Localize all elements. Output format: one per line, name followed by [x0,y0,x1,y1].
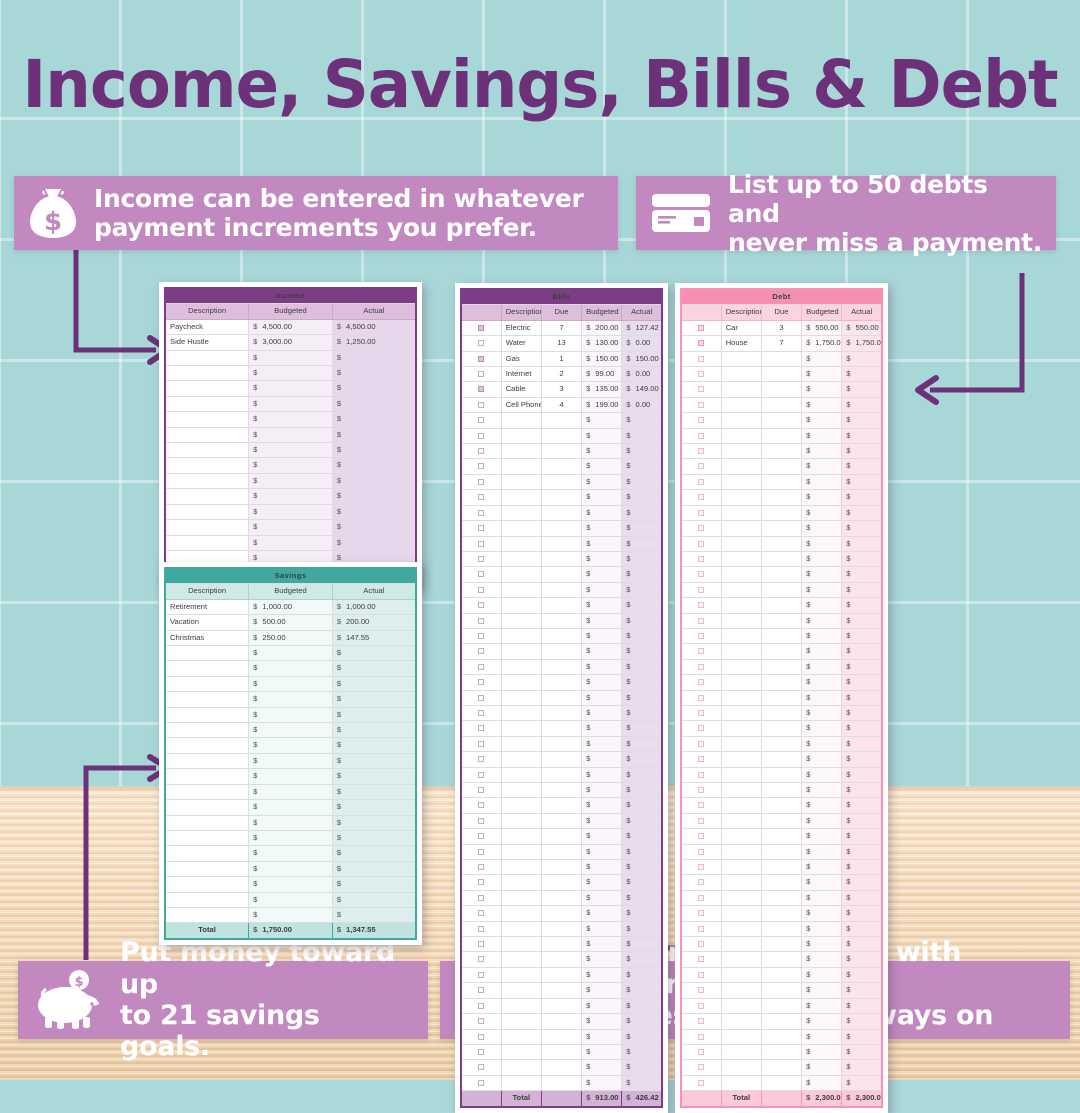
row-budgeted[interactable]: $ [582,998,622,1013]
row-due[interactable] [541,844,581,859]
row-actual[interactable]: $ [842,675,882,690]
row-actual[interactable]: $ [842,474,882,489]
row-description[interactable] [721,613,761,628]
row-description[interactable] [165,800,249,815]
table-row[interactable]: $$ [681,490,882,505]
row-description[interactable] [721,1075,761,1090]
row-budgeted[interactable]: $ [802,937,842,952]
table-row[interactable]: $$ [165,800,416,815]
row-checkbox[interactable] [681,536,721,551]
row-budgeted[interactable]: $150.00 [582,351,622,366]
row-description[interactable] [501,736,541,751]
row-description[interactable] [501,582,541,597]
row-budgeted[interactable]: $ [249,723,333,738]
row-budgeted[interactable]: $ [249,753,333,768]
row-budgeted[interactable]: $ [582,1075,622,1090]
table-row[interactable]: $$ [461,582,662,597]
row-actual[interactable]: $ [622,444,662,459]
row-checkbox[interactable] [461,351,501,366]
row-description[interactable] [165,427,249,442]
row-actual[interactable]: $ [842,521,882,536]
table-row[interactable]: $$ [461,659,662,674]
row-description[interactable] [501,906,541,921]
row-description[interactable] [501,644,541,659]
row-description[interactable] [721,505,761,520]
row-checkbox[interactable] [461,767,501,782]
row-checkbox[interactable] [461,783,501,798]
table-row[interactable]: $$ [681,582,882,597]
row-checkbox[interactable] [681,659,721,674]
row-checkbox[interactable] [461,829,501,844]
row-budgeted[interactable]: $ [582,659,622,674]
row-actual[interactable]: $ [622,490,662,505]
row-budgeted[interactable]: $ [802,1029,842,1044]
row-actual[interactable]: $ [622,1044,662,1059]
row-checkbox[interactable] [681,1044,721,1059]
table-row[interactable]: $$ [681,351,882,366]
row-checkbox[interactable] [681,813,721,828]
row-due[interactable] [541,444,581,459]
table-row[interactable]: $$ [681,567,882,582]
table-row[interactable]: $$ [461,1060,662,1075]
row-due[interactable] [761,613,801,628]
row-description[interactable] [501,952,541,967]
row-due[interactable] [541,813,581,828]
row-due[interactable] [541,613,581,628]
row-budgeted[interactable]: $ [582,567,622,582]
row-budgeted[interactable]: $ [249,907,333,922]
table-row[interactable]: Gas1$150.00$150.00 [461,351,662,366]
row-actual[interactable]: $147.55 [332,630,416,645]
row-description[interactable] [501,998,541,1013]
table-row[interactable]: $$ [461,1044,662,1059]
table-row[interactable]: $$ [681,752,882,767]
row-due[interactable] [761,444,801,459]
row-budgeted[interactable]: $3,000.00 [249,335,333,350]
row-actual[interactable]: $ [332,458,416,473]
row-due[interactable] [541,1014,581,1029]
row-checkbox[interactable] [681,921,721,936]
row-checkbox[interactable] [461,813,501,828]
row-due[interactable] [541,798,581,813]
table-row[interactable]: $$ [461,783,662,798]
row-description[interactable] [165,489,249,504]
row-checkbox[interactable] [461,320,501,335]
row-description[interactable] [165,646,249,661]
row-budgeted[interactable]: $ [582,875,622,890]
row-actual[interactable]: $ [622,906,662,921]
row-description[interactable]: Side Hustle [165,335,249,350]
table-row[interactable]: $$ [165,892,416,907]
table-row[interactable]: $$ [165,427,416,442]
row-budgeted[interactable]: $ [802,644,842,659]
row-actual[interactable]: $ [332,489,416,504]
table-row[interactable]: $$ [461,1075,662,1090]
row-checkbox[interactable] [681,521,721,536]
row-actual[interactable]: $ [842,690,882,705]
row-description[interactable] [501,567,541,582]
row-actual[interactable]: $ [842,459,882,474]
row-due[interactable] [541,998,581,1013]
row-actual[interactable]: $550.00 [842,320,882,335]
row-actual[interactable]: $ [622,844,662,859]
row-budgeted[interactable]: $ [582,505,622,520]
row-budgeted[interactable]: $ [582,598,622,613]
row-budgeted[interactable]: $ [249,661,333,676]
row-due[interactable] [761,1044,801,1059]
row-budgeted[interactable]: $ [802,890,842,905]
row-description[interactable] [721,598,761,613]
row-budgeted[interactable]: $ [802,459,842,474]
row-due[interactable] [761,551,801,566]
row-budgeted[interactable]: $ [802,798,842,813]
table-row[interactable]: $$ [461,551,662,566]
table-row[interactable]: $$ [681,551,882,566]
table-row[interactable]: $$ [461,813,662,828]
row-description[interactable] [501,860,541,875]
row-budgeted[interactable]: $ [582,1044,622,1059]
row-checkbox[interactable] [461,428,501,443]
table-row[interactable]: Internet2$99.00$0.00 [461,367,662,382]
row-actual[interactable]: $ [842,444,882,459]
row-description[interactable] [721,1060,761,1075]
row-budgeted[interactable]: $ [582,474,622,489]
table-row[interactable]: $$ [461,937,662,952]
row-budgeted[interactable]: $ [249,396,333,411]
row-due[interactable]: 7 [761,336,801,351]
row-actual[interactable]: $ [332,396,416,411]
row-actual[interactable]: $ [622,551,662,566]
row-checkbox[interactable] [461,752,501,767]
row-due[interactable]: 3 [761,320,801,335]
row-description[interactable] [165,846,249,861]
row-budgeted[interactable]: $4,500.00 [249,319,333,334]
row-budgeted[interactable]: $ [582,444,622,459]
row-budgeted[interactable]: $ [802,598,842,613]
row-budgeted[interactable]: $ [582,628,622,643]
row-actual[interactable]: $ [332,366,416,381]
row-description[interactable] [721,536,761,551]
row-actual[interactable]: $ [332,381,416,396]
row-description[interactable] [165,458,249,473]
row-budgeted[interactable]: $135.00 [582,382,622,397]
table-row[interactable]: $$ [461,598,662,613]
row-actual[interactable]: $1,000.00 [332,599,416,614]
row-budgeted[interactable]: $ [582,829,622,844]
row-description[interactable] [721,382,761,397]
table-row[interactable]: $$ [681,813,882,828]
row-checkbox[interactable] [461,937,501,952]
row-checkbox[interactable] [681,598,721,613]
row-budgeted[interactable]: $ [249,473,333,488]
row-description[interactable] [501,459,541,474]
row-budgeted[interactable]: $ [802,367,842,382]
table-row[interactable]: Electric7$200.00$127.42 [461,320,662,335]
row-description[interactable] [721,875,761,890]
row-checkbox[interactable] [681,690,721,705]
row-description[interactable] [721,351,761,366]
row-checkbox[interactable] [681,1060,721,1075]
row-due[interactable] [541,721,581,736]
row-due[interactable]: 1 [541,351,581,366]
row-budgeted[interactable]: $ [582,1014,622,1029]
row-checkbox[interactable] [461,551,501,566]
table-row[interactable]: $$ [681,536,882,551]
row-description[interactable] [165,412,249,427]
row-actual[interactable]: $ [332,520,416,535]
row-checkbox[interactable] [681,628,721,643]
row-description[interactable] [721,952,761,967]
row-checkbox[interactable] [681,551,721,566]
row-description[interactable] [165,830,249,845]
row-description[interactable] [721,367,761,382]
table-row[interactable]: $$ [461,721,662,736]
row-budgeted[interactable]: $ [582,967,622,982]
row-budgeted[interactable]: $ [582,752,622,767]
row-due[interactable] [761,783,801,798]
row-budgeted[interactable]: $ [802,921,842,936]
row-budgeted[interactable]: $ [582,675,622,690]
row-checkbox[interactable] [461,690,501,705]
table-row[interactable]: $$ [681,998,882,1013]
row-description[interactable] [165,535,249,550]
row-actual[interactable]: $0.00 [622,336,662,351]
table-row[interactable]: $$ [165,861,416,876]
row-budgeted[interactable]: $ [582,890,622,905]
table-row[interactable]: Vacation$500.00$200.00 [165,615,416,630]
table-row[interactable]: $$ [165,753,416,768]
row-description[interactable] [165,723,249,738]
row-due[interactable] [541,474,581,489]
row-description[interactable] [501,798,541,813]
row-budgeted[interactable]: $ [802,551,842,566]
row-description[interactable] [501,598,541,613]
row-due[interactable] [541,860,581,875]
table-row[interactable]: $$ [461,952,662,967]
row-budgeted[interactable]: $ [582,783,622,798]
row-checkbox[interactable] [681,459,721,474]
row-budgeted[interactable]: $ [802,567,842,582]
row-description[interactable] [501,783,541,798]
table-row[interactable]: $$ [461,998,662,1013]
row-description[interactable]: Paycheck [165,319,249,334]
row-due[interactable]: 4 [541,397,581,412]
table-row[interactable]: $$ [461,844,662,859]
row-actual[interactable]: $ [622,798,662,813]
row-due[interactable] [541,551,581,566]
row-budgeted[interactable]: $ [802,351,842,366]
row-description[interactable] [721,967,761,982]
row-actual[interactable]: $ [842,1029,882,1044]
row-due[interactable] [761,351,801,366]
table-row[interactable]: $$ [681,598,882,613]
table-row[interactable]: $$ [681,382,882,397]
row-due[interactable] [761,382,801,397]
row-budgeted[interactable]: $ [249,381,333,396]
row-due[interactable]: 2 [541,367,581,382]
row-budgeted[interactable]: $ [582,705,622,720]
row-actual[interactable]: $ [622,829,662,844]
table-row[interactable]: $$ [165,738,416,753]
row-description[interactable] [721,998,761,1013]
row-due[interactable] [761,967,801,982]
row-actual[interactable]: $ [332,753,416,768]
table-row[interactable]: $$ [681,921,882,936]
row-actual[interactable]: $ [622,567,662,582]
table-row[interactable]: $$ [461,505,662,520]
table-row[interactable]: $$ [461,613,662,628]
row-budgeted[interactable]: $550.00 [802,320,842,335]
row-description[interactable] [165,877,249,892]
table-row[interactable]: $$ [461,413,662,428]
row-checkbox[interactable] [461,444,501,459]
row-budgeted[interactable]: $ [802,1014,842,1029]
row-checkbox[interactable] [681,844,721,859]
table-row[interactable]: Christmas$250.00$147.55 [165,630,416,645]
row-description[interactable] [721,675,761,690]
table-row[interactable]: $$ [165,646,416,661]
row-description[interactable]: House [721,336,761,351]
row-checkbox[interactable] [681,937,721,952]
row-budgeted[interactable]: $ [249,646,333,661]
row-description[interactable] [721,829,761,844]
row-description[interactable] [501,721,541,736]
row-actual[interactable]: $ [332,892,416,907]
row-description[interactable] [721,444,761,459]
row-description[interactable]: Cell Phone [501,397,541,412]
row-actual[interactable]: $ [332,412,416,427]
table-row[interactable]: $$ [681,659,882,674]
row-actual[interactable]: $ [622,659,662,674]
row-actual[interactable]: $ [332,443,416,458]
row-due[interactable] [541,937,581,952]
row-description[interactable] [501,551,541,566]
row-description[interactable]: Retirement [165,599,249,614]
row-actual[interactable]: $ [332,661,416,676]
row-description[interactable] [501,675,541,690]
row-description[interactable] [721,937,761,952]
row-budgeted[interactable]: $ [802,783,842,798]
row-description[interactable] [721,1029,761,1044]
row-due[interactable] [761,705,801,720]
row-budgeted[interactable]: $ [802,813,842,828]
row-description[interactable] [165,784,249,799]
table-row[interactable]: $$ [681,1014,882,1029]
row-due[interactable] [541,983,581,998]
row-checkbox[interactable] [461,1060,501,1075]
row-actual[interactable]: $ [622,613,662,628]
row-description[interactable] [721,844,761,859]
row-actual[interactable]: $ [622,628,662,643]
table-row[interactable]: $$ [165,830,416,845]
row-budgeted[interactable]: $ [249,489,333,504]
row-description[interactable] [721,860,761,875]
row-budgeted[interactable]: $ [249,443,333,458]
row-due[interactable] [761,505,801,520]
row-description[interactable]: Vacation [165,615,249,630]
table-row[interactable]: $$ [461,521,662,536]
row-actual[interactable]: $150.00 [622,351,662,366]
row-due[interactable]: 7 [541,320,581,335]
row-actual[interactable]: $ [622,1029,662,1044]
table-row[interactable]: $$ [681,736,882,751]
row-checkbox[interactable] [681,783,721,798]
row-checkbox[interactable] [461,798,501,813]
row-actual[interactable]: $ [842,921,882,936]
row-actual[interactable]: $ [842,351,882,366]
row-budgeted[interactable]: $ [249,892,333,907]
row-actual[interactable]: $ [622,967,662,982]
table-row[interactable]: $$ [681,459,882,474]
row-due[interactable] [541,906,581,921]
table-row[interactable]: $$ [165,723,416,738]
row-budgeted[interactable]: $ [582,613,622,628]
row-description[interactable] [721,721,761,736]
row-budgeted[interactable]: $ [582,582,622,597]
row-actual[interactable]: $ [842,952,882,967]
table-row[interactable]: $$ [461,690,662,705]
table-row[interactable]: $$ [681,860,882,875]
table-row[interactable]: $$ [681,890,882,905]
row-budgeted[interactable]: $ [582,813,622,828]
row-due[interactable] [761,998,801,1013]
table-row[interactable]: $$ [681,767,882,782]
row-checkbox[interactable] [461,536,501,551]
row-description[interactable] [501,813,541,828]
row-description[interactable] [501,829,541,844]
row-description[interactable]: Christmas [165,630,249,645]
row-due[interactable] [761,736,801,751]
table-row[interactable]: Retirement$1,000.00$1,000.00 [165,599,416,614]
row-actual[interactable]: $ [332,350,416,365]
row-checkbox[interactable] [681,351,721,366]
table-row[interactable]: $$ [461,705,662,720]
row-description[interactable] [165,815,249,830]
row-description[interactable] [721,705,761,720]
row-due[interactable] [541,967,581,982]
table-row[interactable]: $$ [681,690,882,705]
table-row[interactable]: $$ [681,798,882,813]
row-budgeted[interactable]: $ [249,784,333,799]
row-budgeted[interactable]: $ [582,644,622,659]
table-row[interactable]: $$ [681,783,882,798]
table-row[interactable]: $$ [681,444,882,459]
table-row[interactable]: $$ [461,459,662,474]
row-budgeted[interactable]: $ [249,412,333,427]
row-budgeted[interactable]: $250.00 [249,630,333,645]
row-actual[interactable]: $ [842,536,882,551]
row-checkbox[interactable] [681,613,721,628]
row-description[interactable] [165,473,249,488]
row-due[interactable] [761,937,801,952]
row-checkbox[interactable] [461,567,501,582]
row-due[interactable] [761,1014,801,1029]
row-due[interactable]: 13 [541,336,581,351]
table-row[interactable]: $$ [461,860,662,875]
table-row[interactable]: $$ [165,815,416,830]
row-budgeted[interactable]: $ [582,459,622,474]
row-due[interactable] [761,1060,801,1075]
row-description[interactable] [721,628,761,643]
row-description[interactable]: Water [501,336,541,351]
row-due[interactable] [761,367,801,382]
row-due[interactable] [541,675,581,690]
table-row[interactable]: $$ [681,1029,882,1044]
row-checkbox[interactable] [681,798,721,813]
row-actual[interactable]: $ [622,521,662,536]
row-budgeted[interactable]: $ [802,536,842,551]
table-row[interactable]: $$ [461,474,662,489]
